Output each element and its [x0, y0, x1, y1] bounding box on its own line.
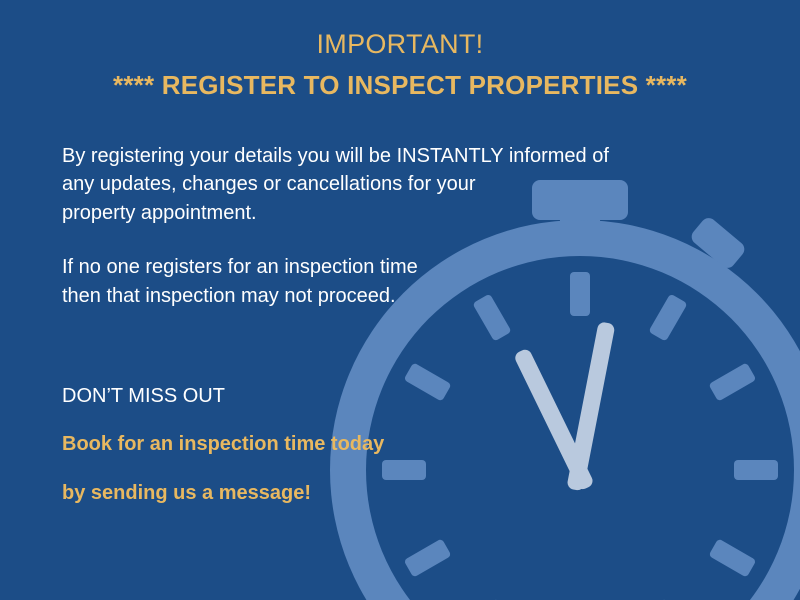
paragraph-spacer [62, 227, 722, 253]
cta-line-1: DON’T MISS OUT [62, 382, 582, 410]
paragraph-1-line-2: any updates, changes or cancellations fo… [62, 170, 722, 198]
cta-line-2: Book for an inspection time today [62, 430, 582, 458]
headline-line-2: **** REGISTER TO INSPECT PROPERTIES **** [0, 72, 800, 99]
slide-canvas: IMPORTANT! **** REGISTER TO INSPECT PROP… [0, 0, 800, 600]
cta-line-3: by sending us a message! [62, 479, 582, 507]
headline-line-1: IMPORTANT! [316, 29, 483, 59]
paragraph-2-line-2: then that inspection may not proceed. [62, 282, 722, 310]
paragraph-2-line-1: If no one registers for an inspection ti… [62, 253, 722, 281]
headline: IMPORTANT! **** REGISTER TO INSPECT PROP… [0, 30, 800, 100]
paragraph-1-line-3: property appointment. [62, 199, 722, 227]
paragraph-1-line-1: By registering your details you will be … [62, 142, 722, 170]
call-to-action: DON’T MISS OUT Book for an inspection ti… [62, 362, 582, 527]
body-copy: By registering your details you will be … [62, 142, 722, 310]
